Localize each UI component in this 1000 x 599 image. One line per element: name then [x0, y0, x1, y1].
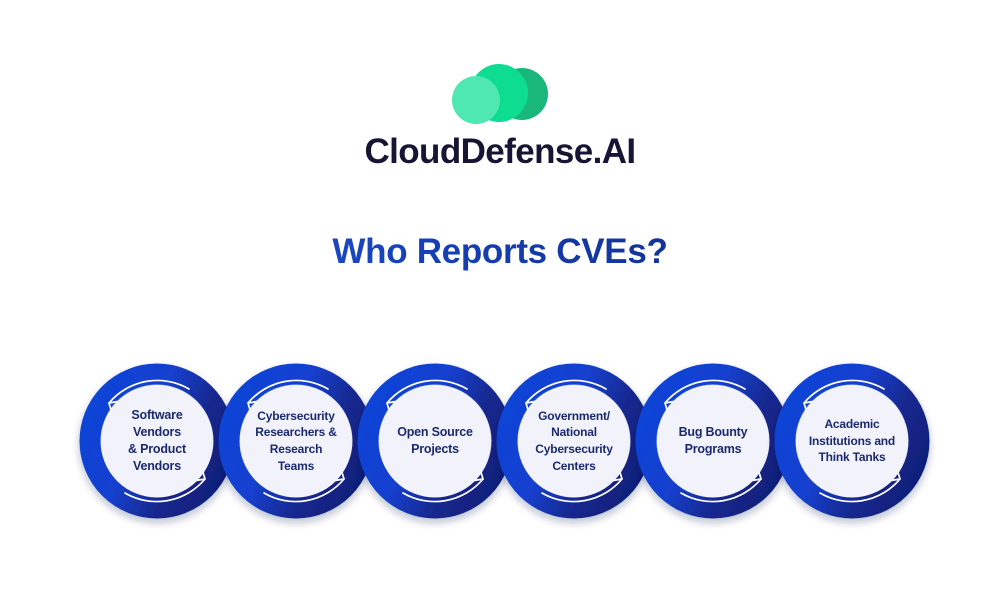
cycle-node-disc: Academic Institutions and Think Tanks [796, 385, 908, 497]
cycle-node-cybersecurity-researchers[interactable]: Cybersecurity Researchers & Research Tea… [218, 363, 374, 519]
brand-name: CloudDefense.AI [0, 134, 1000, 169]
cycle-node-disc: Government/ National Cybersecurity Cente… [518, 385, 630, 497]
cycle-node-software-vendors[interactable]: Software Vendors & Product Vendors [79, 363, 235, 519]
cycle-node-label: Cybersecurity Researchers & Research Tea… [254, 408, 337, 474]
cycle-diagram: Software Vendors & Product VendorsCybers… [0, 363, 1000, 523]
cycle-node-bug-bounty-programs[interactable]: Bug Bounty Programs [635, 363, 791, 519]
cycle-node-government-cybersecurity-centers[interactable]: Government/ National Cybersecurity Cente… [496, 363, 652, 519]
cycle-node-disc: Software Vendors & Product Vendors [101, 385, 213, 497]
cycle-node-academic-institutions[interactable]: Academic Institutions and Think Tanks [774, 363, 930, 519]
logo-blob-front [452, 76, 500, 124]
cycle-node-open-source-projects[interactable]: Open Source Projects [357, 363, 513, 519]
cloud-blobs-logo-icon [452, 62, 548, 124]
brand-header: CloudDefense.AI [0, 62, 1000, 169]
cycle-node-label: Bug Bounty Programs [675, 424, 752, 459]
cycle-node-disc: Bug Bounty Programs [657, 385, 769, 497]
cycle-node-disc: Open Source Projects [379, 385, 491, 497]
cycle-node-label: Academic Institutions and Think Tanks [808, 416, 896, 466]
cycle-node-label: Government/ National Cybersecurity Cente… [534, 408, 613, 474]
page-title: Who Reports CVEs? [0, 232, 1000, 272]
cycle-node-label: Open Source Projects [393, 424, 477, 459]
cycle-node-disc: Cybersecurity Researchers & Research Tea… [240, 385, 352, 497]
cycle-node-label: Software Vendors & Product Vendors [124, 407, 190, 476]
